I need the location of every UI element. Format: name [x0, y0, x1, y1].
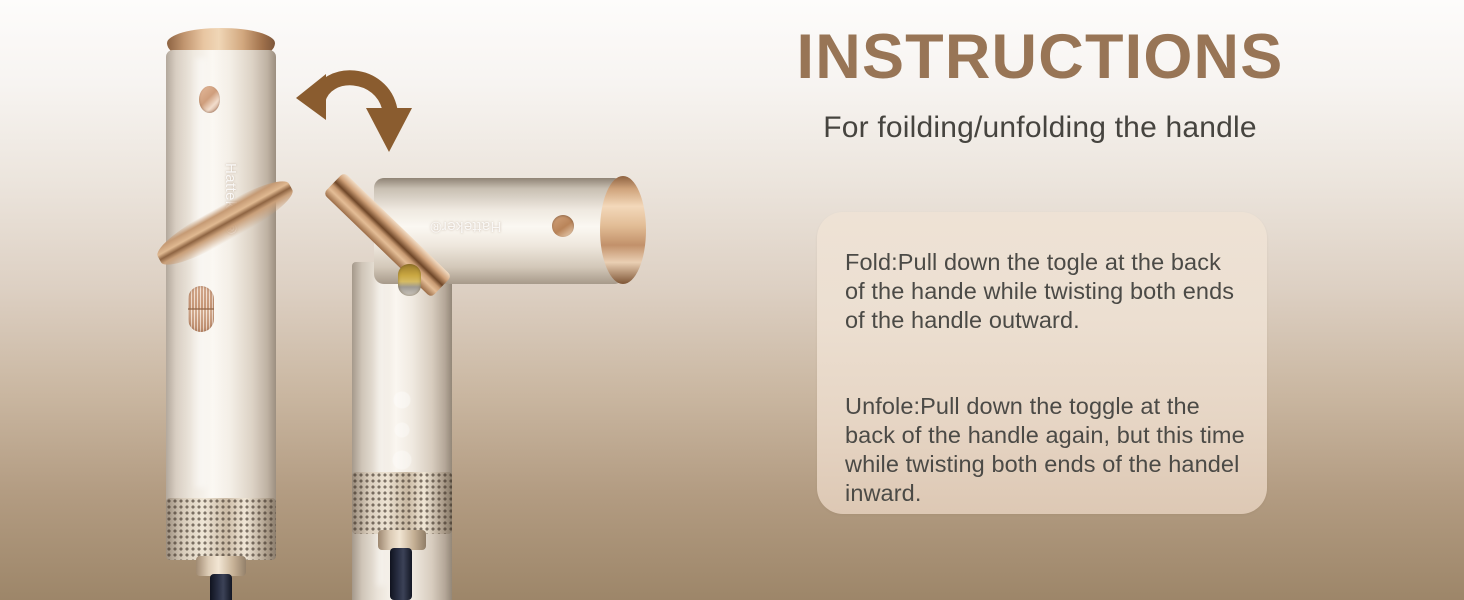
hair-dryer-folded: Hatteker®: [352, 166, 652, 600]
brand-logo: Hatteker®: [175, 163, 239, 197]
body-highlight: [192, 58, 210, 488]
text-column: INSTRUCTIONS For foilding/unfolding the …: [760, 0, 1464, 600]
power-button: [398, 264, 421, 296]
nozzle-ring: [600, 176, 646, 284]
mesh-collar: [378, 530, 426, 550]
certification-marks: [378, 384, 426, 476]
power-cable: [210, 574, 232, 600]
product-illustration-area: Hatteker® Hatteker®: [0, 0, 760, 600]
hair-dryer-unfolded: Hatteker®: [166, 28, 276, 600]
mesh-collar: [196, 556, 246, 576]
rotation-arrow-icon: [296, 52, 412, 156]
brand-logo: Hatteker®: [430, 218, 501, 235]
barrel-button: [552, 215, 574, 237]
unfold-instruction-text: Unfole:Pull down the toggle at the back …: [845, 392, 1245, 508]
power-cable: [390, 548, 412, 600]
air-intake-mesh: [166, 498, 276, 560]
fold-instruction-text: Fold:Pull down the togle at the back of …: [845, 248, 1245, 335]
instructions-banner: Hatteker® Hatteker®: [0, 0, 1464, 600]
page-subtitle: For foilding/unfolding the handle: [760, 108, 1320, 149]
instructions-note-box: Fold:Pull down the togle at the back of …: [817, 212, 1267, 514]
round-button: [199, 86, 220, 113]
air-intake-mesh: [352, 472, 452, 534]
page-title: INSTRUCTIONS: [760, 24, 1320, 90]
dryer-body: [166, 50, 276, 520]
toggle-divider: [188, 308, 214, 310]
